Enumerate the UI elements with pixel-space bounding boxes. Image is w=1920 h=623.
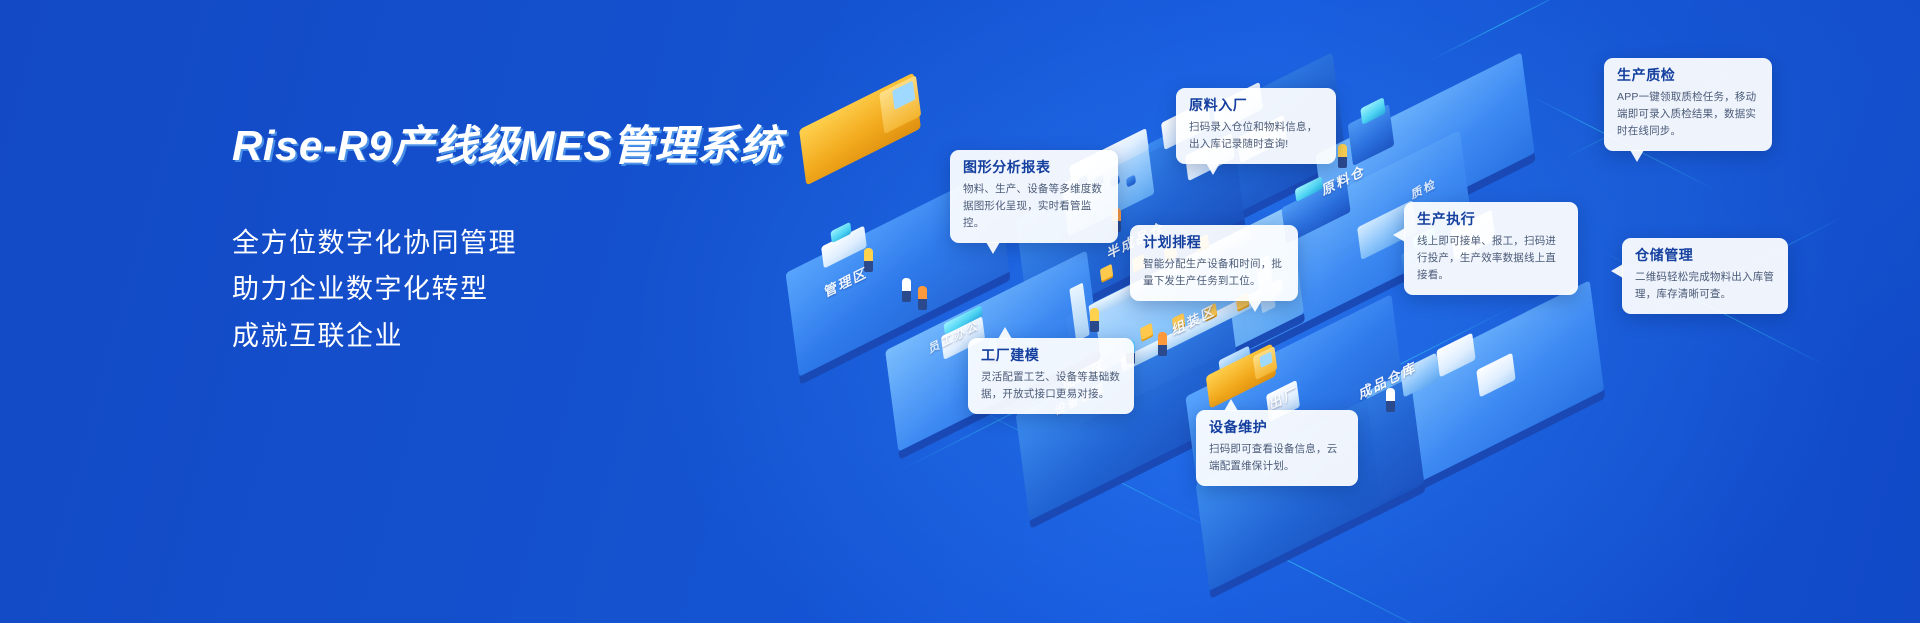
card-description: APP一键领取质检任务，移动端即可录入质检结果，数据实时在线同步。 — [1617, 89, 1760, 140]
worker-figure — [1338, 144, 1347, 168]
subtitle-line-2: 助力企业数字化转型 — [232, 266, 792, 313]
callout-tail-icon — [1206, 163, 1220, 175]
card-title: 设备维护 — [1209, 419, 1346, 436]
card-title: 生产执行 — [1417, 211, 1566, 228]
callout-tail-icon — [1630, 150, 1644, 162]
card-production-execution[interactable]: 生产执行 线上即可接单、报工，扫码进行投产，生产效率数据线上直接看。 — [1404, 202, 1578, 295]
card-raw-material-inbound[interactable]: 原料入厂 扫码录入仓位和物料信息，出入库记录随时查询! — [1176, 88, 1336, 164]
card-description: 智能分配生产设备和时间，批量下发生产任务到工位。 — [1143, 256, 1286, 290]
card-description: 线上即可接单、报工，扫码进行投产，生产效率数据线上直接看。 — [1417, 233, 1566, 284]
card-title: 计划排程 — [1143, 234, 1286, 251]
callout-tail-icon — [986, 242, 1000, 254]
callout-tail-icon — [1393, 228, 1405, 242]
hero-banner: Rise-R9产线级MES管理系统 全方位数字化协同管理 助力企业数字化转型 成… — [0, 0, 1920, 623]
worker-figure — [1090, 308, 1099, 332]
hero-subtitle: 全方位数字化协同管理 助力企业数字化转型 成就互联企业 — [232, 220, 792, 360]
worker-figure — [1386, 388, 1395, 412]
card-production-quality-inspection[interactable]: 生产质检 APP一键领取质检任务，移动端即可录入质检结果，数据实时在线同步。 — [1604, 58, 1772, 151]
card-description: 二维码轻松完成物料出入库管理，库存清晰可查。 — [1635, 269, 1776, 303]
worker-figure — [902, 278, 911, 302]
card-title: 原料入厂 — [1189, 97, 1324, 114]
worker-figure — [1158, 332, 1167, 356]
hero-copy: Rise-R9产线级MES管理系统 全方位数字化协同管理 助力企业数字化转型 成… — [232, 120, 792, 360]
callout-tail-icon — [1611, 264, 1623, 278]
callout-tail-icon — [1248, 300, 1262, 312]
card-warehouse-management[interactable]: 仓储管理 二维码轻松完成物料出入库管理，库存清晰可查。 — [1622, 238, 1788, 314]
card-title: 工厂建模 — [981, 347, 1122, 364]
card-title: 生产质检 — [1617, 67, 1760, 84]
page-title: Rise-R9产线级MES管理系统 — [232, 120, 792, 173]
card-equipment-maintenance[interactable]: 设备维护 扫码即可查看设备信息，云端配置维保计划。 — [1196, 410, 1358, 486]
worker-figure — [918, 286, 927, 310]
card-title: 仓储管理 — [1635, 247, 1776, 264]
card-graphic-analysis-report[interactable]: 图形分析报表 物料、生产、设备等多维度数据图形化呈现，实时看管监控。 — [950, 150, 1118, 243]
subtitle-line-3: 成就互联企业 — [232, 313, 792, 360]
card-description: 扫码录入仓位和物料信息，出入库记录随时查询! — [1189, 119, 1324, 153]
card-title: 图形分析报表 — [963, 159, 1106, 176]
card-description: 物料、生产、设备等多维度数据图形化呈现，实时看管监控。 — [963, 181, 1106, 232]
callout-tail-icon — [1224, 399, 1238, 411]
callout-tail-icon — [998, 327, 1012, 339]
card-factory-modeling[interactable]: 工厂建模 灵活配置工艺、设备等基础数据，开放式接口更易对接。 — [968, 338, 1134, 414]
card-description: 扫码即可查看设备信息，云端配置维保计划。 — [1209, 441, 1346, 475]
card-planning-scheduling[interactable]: 计划排程 智能分配生产设备和时间，批量下发生产任务到工位。 — [1130, 225, 1298, 301]
card-description: 灵活配置工艺、设备等基础数据，开放式接口更易对接。 — [981, 369, 1122, 403]
subtitle-line-1: 全方位数字化协同管理 — [232, 220, 792, 267]
delivery-truck-inbound — [799, 72, 921, 185]
